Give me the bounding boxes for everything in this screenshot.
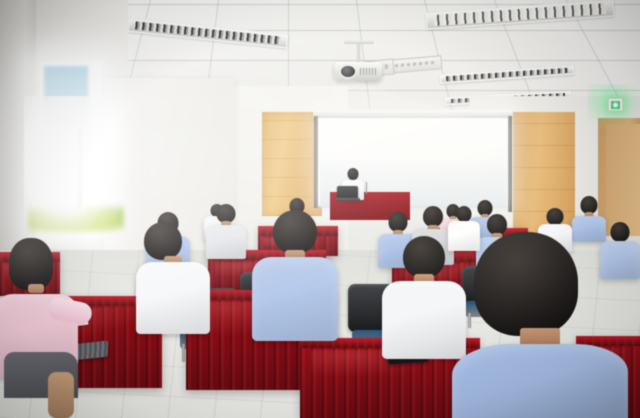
wooden-door[interactable]: [606, 124, 640, 236]
head: [403, 236, 445, 278]
audience-member: [452, 232, 628, 418]
conference-room-photo: [0, 0, 640, 418]
audience-member: [206, 204, 246, 256]
head: [9, 238, 53, 290]
projector-vent: [360, 68, 376, 75]
torso: [206, 225, 246, 259]
torso: [452, 344, 628, 418]
window-glare: [24, 96, 128, 246]
laptop-base: [336, 198, 360, 201]
running-man-glyph: [611, 101, 620, 109]
screen-housing: [313, 110, 512, 118]
presenter-laptop: [336, 186, 360, 201]
torso: [252, 257, 338, 341]
screen-edge-right: [508, 116, 512, 212]
torso: [136, 262, 210, 334]
projector-mount-pole: [357, 42, 360, 64]
head: [389, 212, 408, 232]
projector-lens-icon: [341, 66, 355, 77]
head: [273, 210, 317, 254]
head: [474, 232, 578, 336]
presenter-head: [348, 168, 359, 180]
audience-member: [136, 222, 210, 330]
audience-member: [252, 210, 338, 336]
exit-sign-icon: [608, 98, 623, 111]
neck: [28, 284, 44, 293]
head: [423, 206, 443, 227]
head: [547, 208, 564, 225]
audience-member-leg: [48, 372, 74, 418]
head: [457, 206, 472, 222]
microphone-stand: [366, 182, 367, 194]
head: [144, 222, 182, 260]
